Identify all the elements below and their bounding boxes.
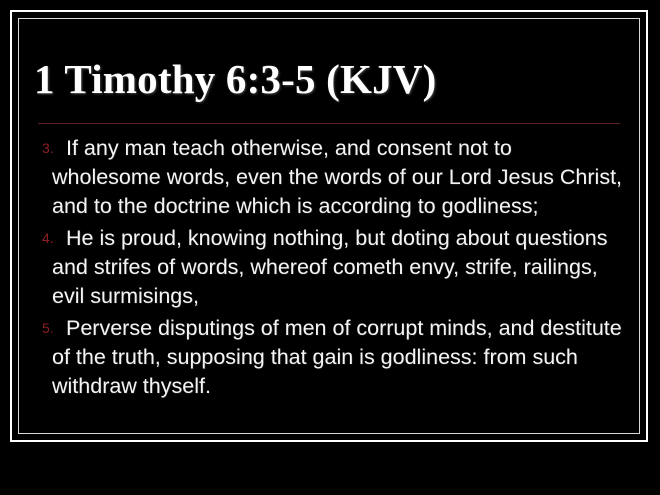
verse-number: 5. — [30, 314, 52, 343]
verse-text: Perverse disputings of men of corrupt mi… — [52, 314, 630, 401]
verse-number: 3. — [30, 134, 52, 163]
list-item: 4. He is proud, knowing nothing, but dot… — [30, 224, 630, 311]
verse-number: 4. — [30, 224, 52, 253]
title-block: 1 Timothy 6:3-5 (KJV) — [34, 58, 624, 101]
list-item: 5. Perverse disputings of men of corrupt… — [30, 314, 630, 401]
title-separator-rule — [38, 123, 620, 124]
list-item: 3. If any man teach otherwise, and conse… — [30, 134, 630, 221]
page-title: 1 Timothy 6:3-5 (KJV) — [34, 58, 624, 101]
verse-text: He is proud, knowing nothing, but doting… — [52, 224, 630, 311]
verse-list: 3. If any man teach otherwise, and conse… — [30, 134, 630, 404]
scripture-slide: 1 Timothy 6:3-5 (KJV) 3. If any man teac… — [0, 0, 660, 495]
verse-text: If any man teach otherwise, and consent … — [52, 134, 630, 221]
